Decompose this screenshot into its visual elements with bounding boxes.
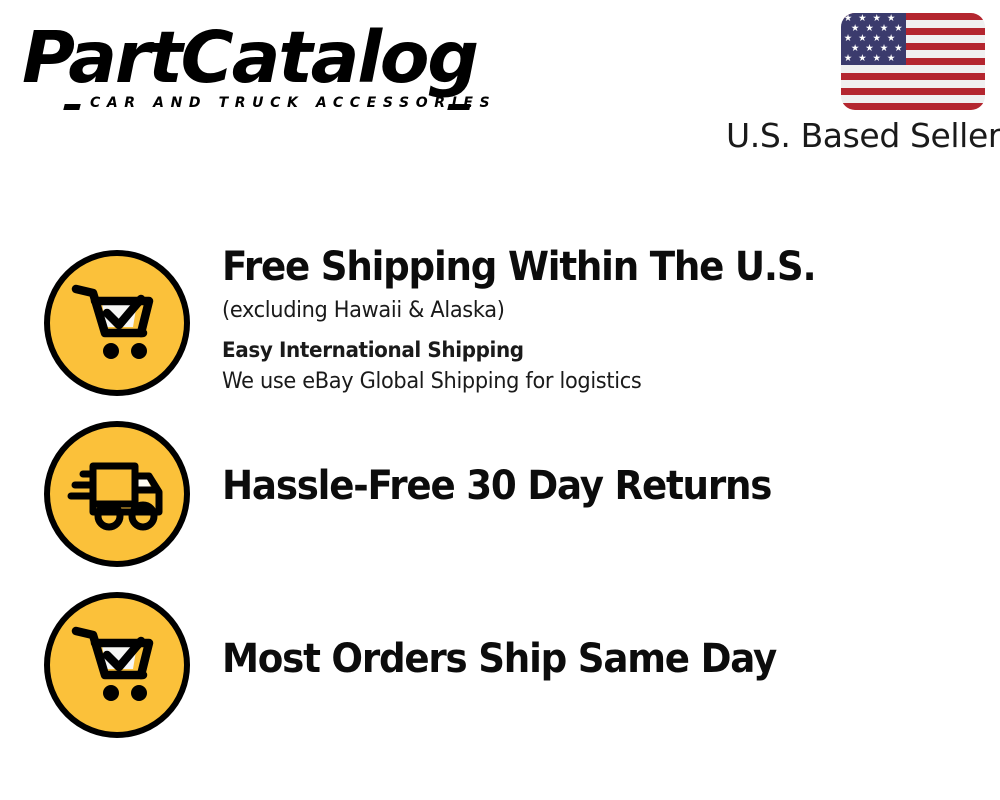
- brand-tagline: CAR AND TRUCK ACCESSORIES: [90, 95, 496, 111]
- flag-star-icon: ★: [887, 54, 896, 64]
- feature-subtext: (excluding Hawaii & Alaska): [222, 295, 954, 326]
- brand-wordmark: PartCatalog: [22, 22, 501, 94]
- flag-stripe: [841, 88, 985, 95]
- page-header: PartCatalog CAR AND TRUCK ACCESSORIES ★★…: [0, 0, 1000, 175]
- feature-text-1: Hassle-Free 30 Day Returns: [222, 463, 992, 509]
- feature-badge-1: [44, 421, 190, 567]
- feature-heading: Hassle-Free 30 Day Returns: [222, 463, 938, 509]
- feature-subtext-bold: Easy International Shipping: [222, 335, 954, 366]
- tagline-dash-left-icon: [63, 104, 80, 110]
- flag-stripe: [841, 95, 985, 102]
- seller-caption: U.S. Based Seller: [726, 117, 988, 155]
- feature-text-0: Free Shipping Within The U.S. (excluding…: [222, 244, 992, 397]
- feature-subtext: We use eBay Global Shipping for logistic…: [222, 366, 954, 397]
- flag-stripe: [841, 80, 985, 87]
- tagline-dash-right-icon: [447, 104, 470, 110]
- united-states-flag-icon: ★★★★★★★★★★★★★★★★★★★★: [841, 13, 985, 110]
- flag-canton: ★★★★★★★★★★★★★★★★★★★★: [841, 13, 906, 65]
- flag-star-icon: ★: [844, 54, 853, 64]
- flag-star-icon: ★: [894, 24, 903, 34]
- brand-tagline-row: CAR AND TRUCK ACCESSORIES: [64, 95, 494, 117]
- brand-logo: PartCatalog CAR AND TRUCK ACCESSORIES: [22, 22, 492, 117]
- shopping-cart-check-icon: [71, 280, 163, 366]
- flag-stripe: [841, 73, 985, 80]
- feature-heading: Most Orders Ship Same Day: [222, 636, 938, 682]
- feature-badge-0: [44, 250, 190, 396]
- feature-row: Most Orders Ship Same Day: [0, 592, 1000, 742]
- flag-stripe: [841, 103, 985, 110]
- flag-star-icon: ★: [894, 44, 903, 54]
- feature-badge-2: [44, 592, 190, 738]
- shopping-cart-check-icon: [71, 622, 163, 708]
- feature-text-2: Most Orders Ship Same Day: [222, 636, 992, 682]
- flag-stripe: [841, 65, 985, 72]
- delivery-truck-icon: [67, 454, 167, 534]
- feature-row: Free Shipping Within The U.S. (excluding…: [0, 250, 1000, 400]
- flag-star-icon: ★: [858, 54, 867, 64]
- feature-row: Hassle-Free 30 Day Returns: [0, 421, 1000, 569]
- flag-star-icon: ★: [873, 54, 882, 64]
- feature-heading: Free Shipping Within The U.S.: [222, 244, 938, 290]
